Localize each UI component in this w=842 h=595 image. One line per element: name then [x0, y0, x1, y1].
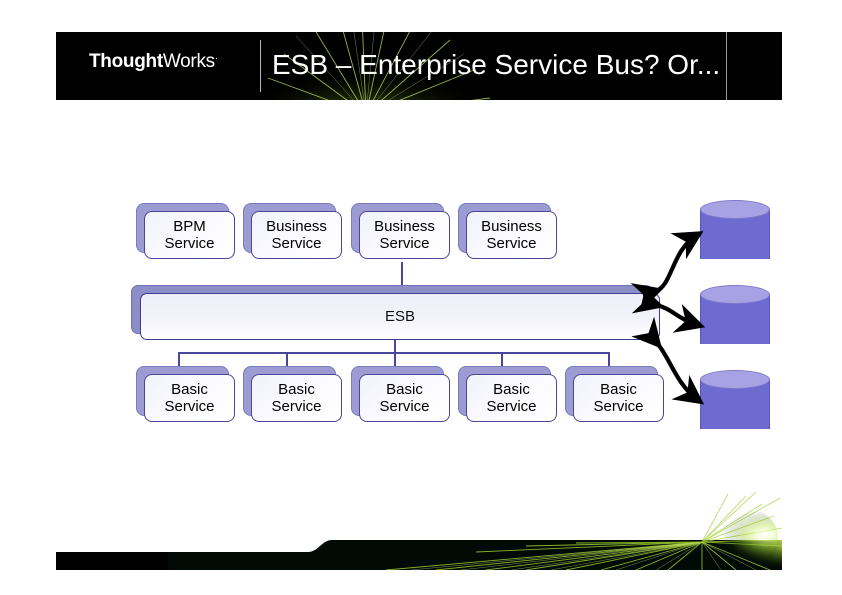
service-box-top-2[interactable]: Business Service: [243, 203, 334, 251]
service-box-label-line2: Service: [593, 398, 643, 415]
service-box-bottom-1[interactable]: Basic Service: [136, 366, 227, 414]
service-box-label-line1: Business: [481, 218, 542, 235]
service-box-top-1[interactable]: BPM Service: [136, 203, 227, 251]
service-box-label-line2: Service: [481, 235, 542, 252]
service-box-top-3[interactable]: Business Service: [351, 203, 442, 251]
datastore-cylinder-1[interactable]: [700, 200, 770, 268]
footer-burst-spill: [654, 492, 782, 570]
service-box-face: Basic Service: [144, 374, 235, 422]
service-box-face: BPM Service: [144, 211, 235, 259]
service-box-label-line2: Service: [164, 398, 214, 415]
service-box-bottom-5[interactable]: Basic Service: [565, 366, 656, 414]
cylinder-top-ellipse: [700, 285, 770, 304]
service-box-face: Business Service: [251, 211, 342, 259]
service-box-face: Basic Service: [359, 374, 450, 422]
service-box-label-line2: Service: [164, 235, 214, 252]
service-box-face: Basic Service: [573, 374, 664, 422]
cylinder-top-ellipse: [700, 370, 770, 389]
service-box-label-line1: Basic: [379, 381, 429, 398]
esb-bus-bar[interactable]: ESB: [131, 285, 651, 332]
service-box-label-line1: Basic: [486, 381, 536, 398]
service-box-bottom-3[interactable]: Basic Service: [351, 366, 442, 414]
service-box-label-line1: Basic: [593, 381, 643, 398]
connector-top-service-3-to-bus: [401, 262, 403, 287]
arrow-bus-to-datastore-2: [657, 305, 698, 325]
service-box-face: Business Service: [466, 211, 557, 259]
datastore-cylinder-2[interactable]: [700, 285, 770, 353]
footer-graphic: [56, 490, 782, 570]
service-box-label-line2: Service: [374, 235, 435, 252]
slide-footer: [56, 490, 782, 570]
esb-bus-face: ESB: [140, 293, 660, 340]
service-box-label-line2: Service: [266, 235, 327, 252]
service-box-label-line1: Business: [374, 218, 435, 235]
service-box-bottom-4[interactable]: Basic Service: [458, 366, 549, 414]
cylinder-top-ellipse: [700, 200, 770, 219]
service-box-label-line2: Service: [379, 398, 429, 415]
arrow-bus-to-datastore-1: [656, 235, 697, 291]
service-box-label-line1: BPM: [164, 218, 214, 235]
service-box-face: Business Service: [359, 211, 450, 259]
service-box-bottom-2[interactable]: Basic Service: [243, 366, 334, 414]
service-box-label-line1: Basic: [271, 381, 321, 398]
service-box-face: Basic Service: [466, 374, 557, 422]
esb-bus-label: ESB: [385, 308, 415, 325]
datastore-cylinder-3[interactable]: [700, 370, 770, 438]
service-box-label-line1: Business: [266, 218, 327, 235]
footer-band-left-dark: [56, 552, 168, 570]
service-box-label-line2: Service: [271, 398, 321, 415]
service-box-label-line2: Service: [486, 398, 536, 415]
service-box-face: Basic Service: [251, 374, 342, 422]
service-box-label-line1: Basic: [164, 381, 214, 398]
service-box-top-4[interactable]: Business Service: [458, 203, 549, 251]
